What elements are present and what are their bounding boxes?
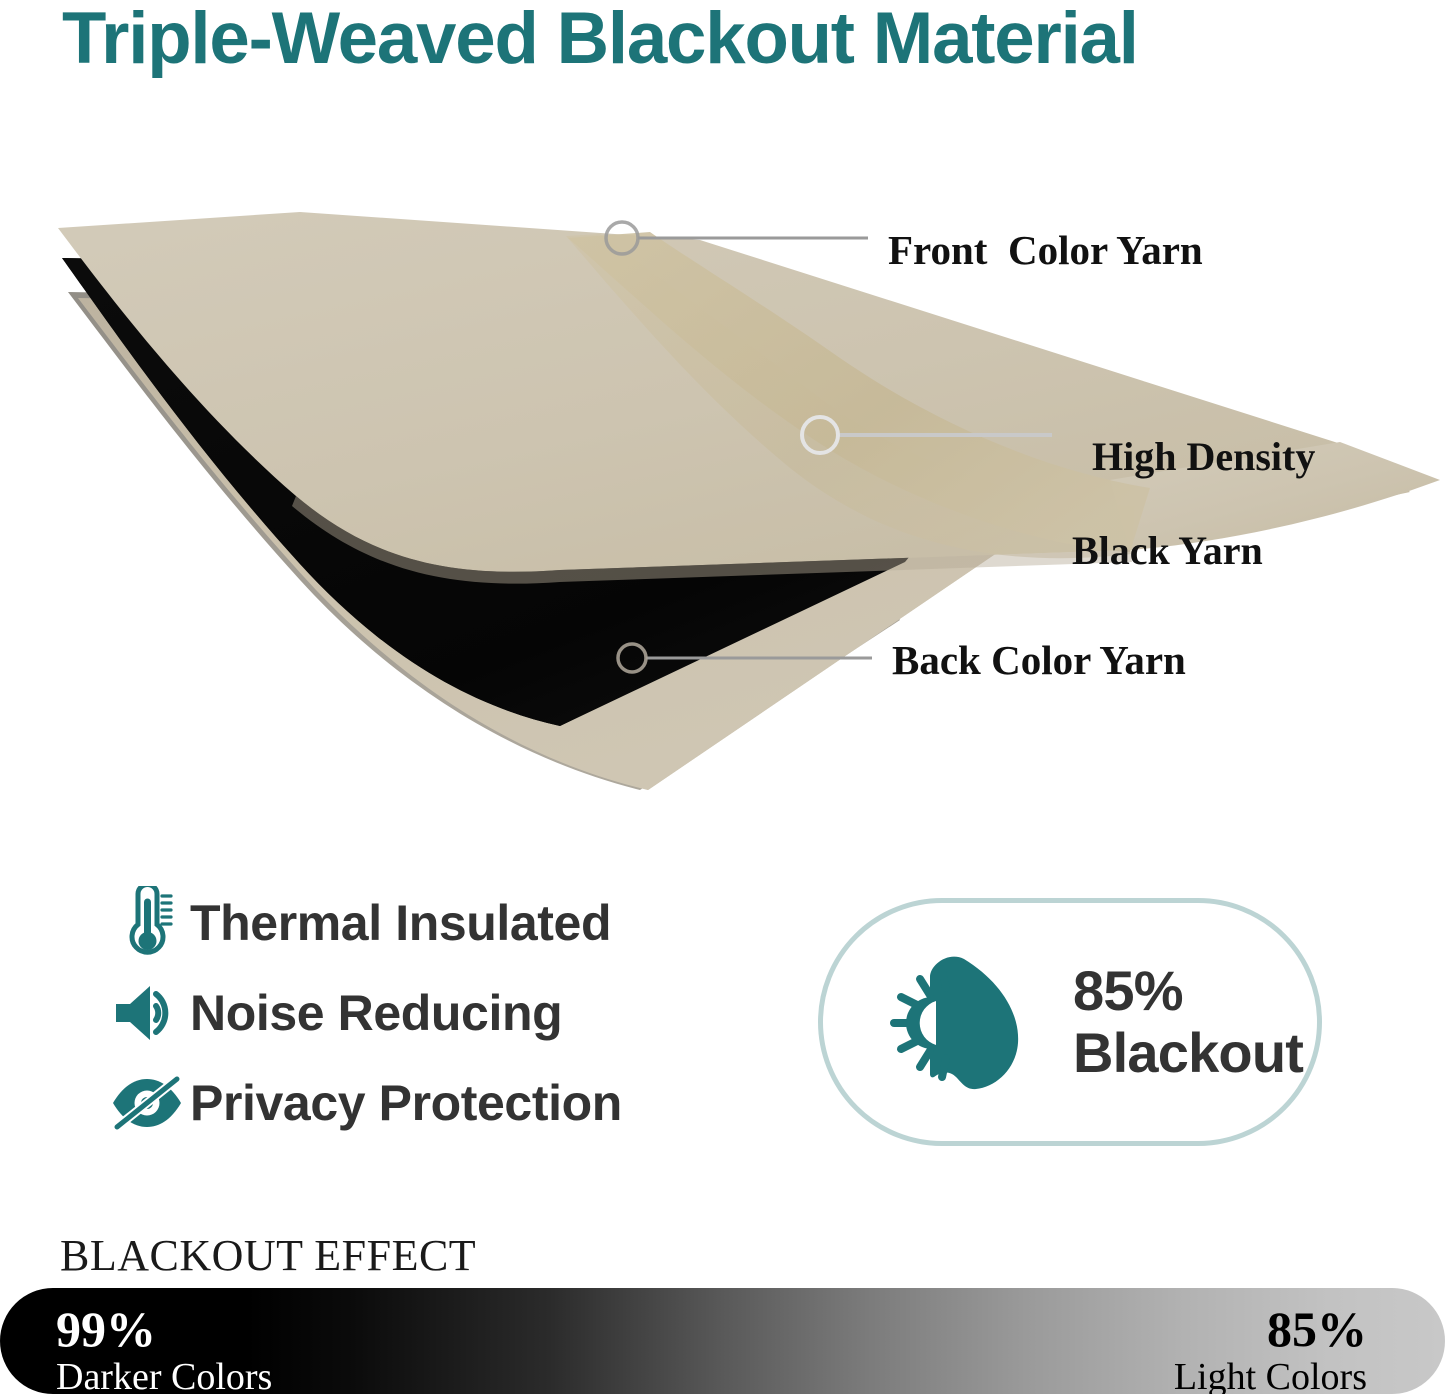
speaker-volume-icon <box>104 982 190 1044</box>
thermometer-icon <box>104 886 190 960</box>
callout-label-high-density-black-yarn: High Density Black Yarn <box>1072 386 1315 621</box>
darker-colors-percent: 99% <box>56 1302 272 1356</box>
gradient-bar-left-value: 99% Darker Colors <box>56 1302 272 1394</box>
light-colors-percent: 85% <box>1174 1302 1367 1356</box>
badge-text-block: 85% Blackout <box>1073 960 1303 1084</box>
feature-list: Thermal Insulated Noise Reducing Privacy… <box>104 878 744 1148</box>
gradient-bar-right-value: 85% Light Colors <box>1174 1302 1367 1394</box>
callout-label-back-color-yarn: Back Color Yarn <box>892 634 1186 686</box>
badge-word: Blackout <box>1073 1022 1303 1084</box>
callout-label-front-color-yarn: Front Color Yarn <box>888 224 1203 276</box>
blackout-effect-gradient-bar: 99% Darker Colors 85% Light Colors <box>0 1288 1445 1394</box>
blackout-effect-heading: BLACKOUT EFFECT <box>60 1231 476 1281</box>
sun-blocked-icon <box>823 947 1073 1097</box>
callout-label-line-1: High Density <box>1092 434 1315 479</box>
feature-label: Privacy Protection <box>190 1075 622 1131</box>
feature-label: Noise Reducing <box>190 985 562 1041</box>
feature-item-thermal-insulated: Thermal Insulated <box>104 878 744 968</box>
page-title: Triple-Weaved Blackout Material <box>62 0 1395 82</box>
darker-colors-caption: Darker Colors <box>56 1356 272 1394</box>
feature-label: Thermal Insulated <box>190 895 611 951</box>
eye-slash-icon <box>104 1074 190 1132</box>
feature-item-noise-reducing: Noise Reducing <box>104 968 744 1058</box>
blackout-percentage-badge: 85% Blackout <box>818 898 1322 1146</box>
feature-item-privacy-protection: Privacy Protection <box>104 1058 744 1148</box>
light-colors-caption: Light Colors <box>1174 1356 1367 1394</box>
callout-label-line-2: Black Yarn <box>1072 527 1315 574</box>
badge-percent: 85% <box>1073 960 1303 1022</box>
